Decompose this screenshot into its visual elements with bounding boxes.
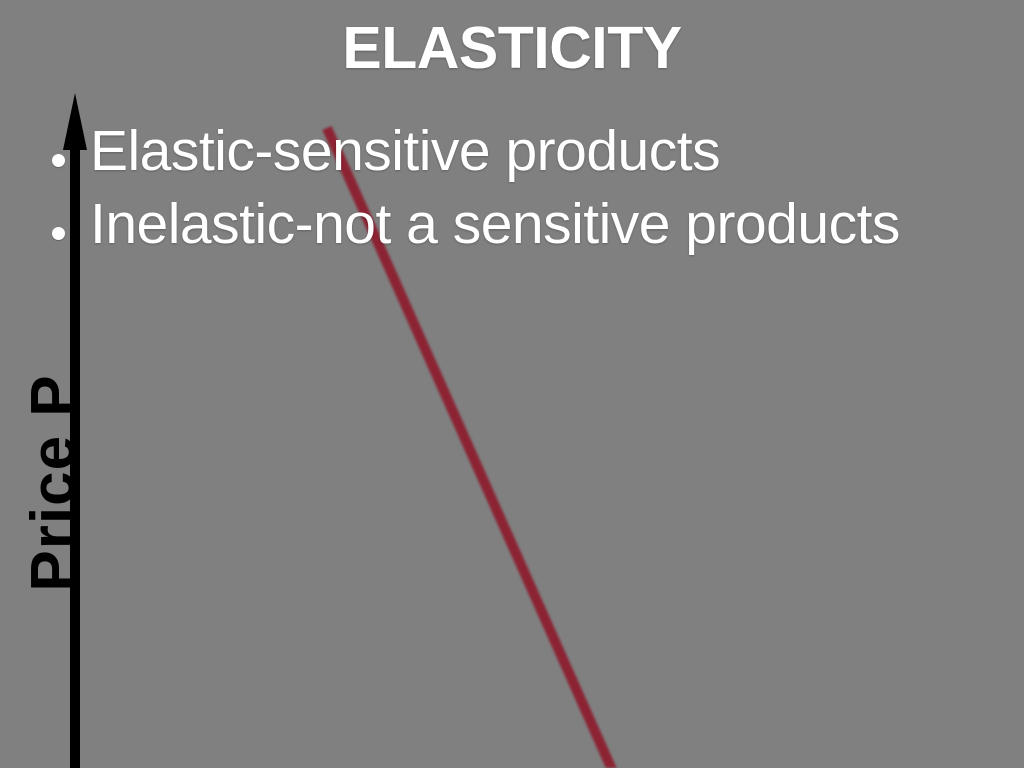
list-item: Inelastic-not a sensitive products [44, 193, 984, 256]
y-axis-label: Price P [23, 333, 85, 633]
list-item-label: Elastic-sensitive products [90, 120, 984, 183]
bullet-dot-icon [52, 154, 65, 167]
demand-curve-layer [0, 0, 1024, 768]
bullet-list: Elastic-sensitive products Inelastic-not… [44, 120, 984, 255]
list-item: Elastic-sensitive products [44, 120, 984, 183]
page-title: ELASTICITY [0, 18, 1024, 80]
bullet-dot-icon [52, 227, 65, 240]
list-item-label: Inelastic-not a sensitive products [90, 193, 984, 256]
slide-canvas: Price P ELASTICITY Elastic-sensitive pro… [0, 0, 1024, 768]
